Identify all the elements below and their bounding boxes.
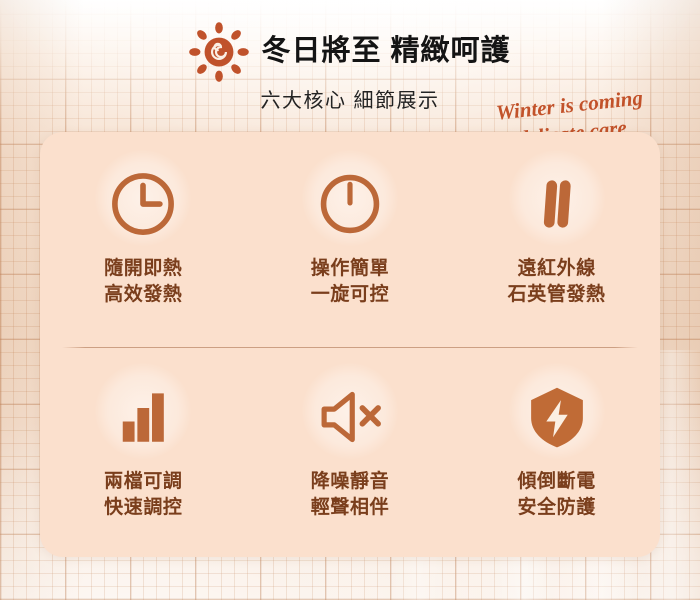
title-row: 冬日將至 精緻呵護	[0, 20, 700, 82]
shield-bolt-icon	[521, 381, 593, 453]
feature-item-easy-operation[interactable]: 操作簡單 一旋可控	[247, 132, 454, 345]
caption-line-1: 遠紅外線	[517, 258, 595, 279]
feature-item-two-levels[interactable]: 兩檔可調 快速調控	[40, 345, 247, 558]
clock-icon	[107, 168, 179, 240]
sun-spiral-icon	[189, 22, 249, 82]
caption-line-1: 兩檔可調	[104, 471, 182, 492]
card-divider	[62, 347, 638, 348]
level-bars-icon	[107, 381, 179, 453]
quartz-tubes-icon	[521, 168, 593, 240]
feature-caption: 降噪靜音 輕聲相伴	[311, 469, 389, 521]
page-title: 冬日將至 精緻呵護	[261, 37, 510, 66]
feature-caption: 操作簡單 一旋可控	[311, 256, 389, 308]
feature-item-infrared-tube[interactable]: 遠紅外線 石英管發熱	[453, 132, 660, 345]
caption-line-2: 安全防護	[517, 495, 595, 521]
feature-item-tip-over-protection[interactable]: 傾倒斷電 安全防護	[453, 345, 660, 558]
dial-knob-icon	[314, 168, 386, 240]
caption-line-1: 隨開即熱	[104, 258, 182, 279]
mute-speaker-icon	[314, 381, 386, 453]
feature-card: 隨開即熱 高效發熱 操作簡單 一旋可控	[40, 132, 660, 557]
caption-line-2: 快速調控	[104, 495, 182, 521]
feature-caption: 傾倒斷電 安全防護	[517, 469, 595, 521]
caption-line-2: 高效發熱	[104, 282, 182, 308]
feature-caption: 遠紅外線 石英管發熱	[508, 256, 606, 308]
caption-line-1: 降噪靜音	[311, 471, 389, 492]
promo-page: 冬日將至 精緻呵護 六大核心 細節展示 Winter is coming del…	[0, 0, 700, 600]
caption-line-2: 石英管發熱	[508, 282, 606, 308]
caption-line-2: 一旋可控	[311, 282, 389, 308]
caption-line-1: 操作簡單	[311, 258, 389, 279]
feature-item-low-noise[interactable]: 降噪靜音 輕聲相伴	[247, 345, 454, 558]
feature-caption: 隨開即熱 高效發熱	[104, 256, 182, 308]
feature-caption: 兩檔可調 快速調控	[104, 469, 182, 521]
feature-item-instant-heat[interactable]: 隨開即熱 高效發熱	[40, 132, 247, 345]
header: 冬日將至 精緻呵護 六大核心 細節展示 Winter is coming del…	[0, 0, 700, 132]
caption-line-2: 輕聲相伴	[311, 495, 389, 521]
feature-grid: 隨開即熱 高效發熱 操作簡單 一旋可控	[40, 132, 660, 557]
caption-line-1: 傾倒斷電	[517, 471, 595, 492]
